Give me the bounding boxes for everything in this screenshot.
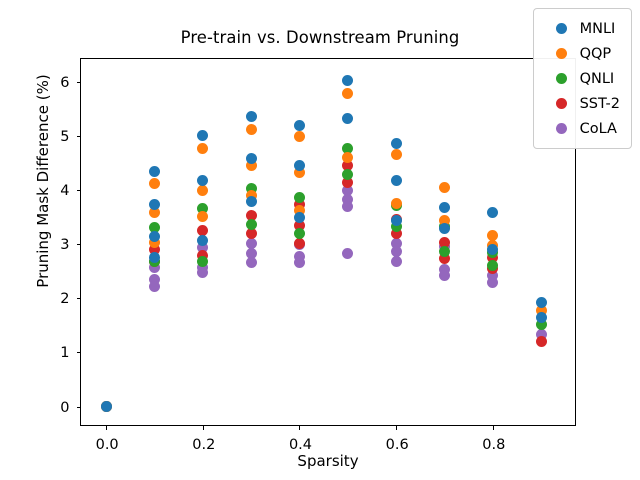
x-axis-tick: 0.4	[299, 425, 300, 430]
x-axis-label: Sparsity	[80, 452, 576, 470]
scatter-point-qqp	[294, 131, 305, 142]
x-axis-tick-label: 0.8	[482, 437, 505, 453]
scatter-point-mnli	[197, 130, 208, 141]
legend-label: MNLI	[580, 21, 616, 37]
y-axis-tick: 5	[77, 136, 82, 137]
scatter-point-qqp	[391, 198, 402, 209]
legend-item-mnli[interactable]: MNLI	[543, 16, 620, 41]
scatter-point-cola	[294, 257, 305, 268]
scatter-point-qqp	[197, 185, 208, 196]
legend-label: QNLI	[580, 71, 615, 87]
scatter-point-mnli	[536, 312, 547, 323]
scatter-point-sst-2	[197, 225, 208, 236]
y-axis-tick: 6	[77, 82, 82, 83]
scatter-point-cola	[246, 257, 257, 268]
scatter-point-qqp	[439, 182, 450, 193]
y-axis-tick-label: 3	[60, 237, 69, 253]
y-axis-tick-label: 2	[60, 291, 69, 307]
scatter-point-mnli	[391, 215, 402, 226]
scatter-point-mnli	[197, 175, 208, 186]
scatter-point-mnli	[536, 297, 547, 308]
legend-item-sst-2[interactable]: SST-2	[543, 91, 620, 116]
scatter-point-cola	[391, 256, 402, 267]
legend-marker-icon	[556, 48, 567, 59]
scatter-point-mnli	[246, 196, 257, 207]
y-axis-label: Pruning Mask Difference (%)	[34, 31, 52, 331]
scatter-points-layer	[81, 59, 575, 425]
scatter-point-mnli	[391, 175, 402, 186]
legend-marker-icon	[556, 73, 567, 84]
scatter-point-cola	[439, 270, 450, 281]
x-axis-tick-label: 0.2	[192, 437, 215, 453]
y-axis-tick-label: 6	[60, 75, 69, 91]
x-axis-tick: 0.8	[493, 425, 494, 430]
scatter-point-qqp	[342, 88, 353, 99]
scatter-point-qqp	[391, 149, 402, 160]
scatter-point-sst-2	[294, 238, 305, 249]
legend-item-cola[interactable]: CoLA	[543, 116, 620, 141]
x-axis-tick: 0.2	[203, 425, 204, 430]
scatter-point-qqp	[246, 124, 257, 135]
scatter-point-qqp	[197, 143, 208, 154]
scatter-point-mnli	[342, 113, 353, 124]
scatter-point-mnli	[391, 138, 402, 149]
plot-area: 01234560.00.20.40.60.8	[80, 58, 576, 426]
y-axis-tick: 3	[77, 244, 82, 245]
x-axis-tick-label: 0.6	[386, 437, 409, 453]
y-axis-tick-label: 4	[60, 183, 69, 199]
scatter-point-qnli	[294, 192, 305, 203]
x-axis-tick: 0.0	[106, 425, 107, 430]
legend-item-qnli[interactable]: QNLI	[543, 66, 620, 91]
y-axis-tick-label: 1	[60, 345, 69, 361]
scatter-point-cola	[197, 267, 208, 278]
x-axis-tick-label: 0.0	[96, 437, 119, 453]
scatter-point-cola	[342, 201, 353, 212]
scatter-point-mnli	[246, 111, 257, 122]
scatter-point-cola	[149, 281, 160, 292]
figure-canvas: Pre-train vs. Downstream Pruning Pruning…	[0, 0, 640, 480]
y-axis-tick: 1	[77, 352, 82, 353]
y-axis-tick: 0	[77, 407, 82, 408]
scatter-point-mnli	[101, 401, 112, 412]
scatter-point-qqp	[197, 211, 208, 222]
scatter-point-sst-2	[536, 336, 547, 347]
legend-marker-icon	[556, 123, 567, 134]
y-axis-tick-label: 0	[60, 400, 69, 416]
legend-label: SST-2	[580, 96, 620, 112]
legend-item-qqp[interactable]: QQP	[543, 41, 620, 66]
scatter-point-mnli	[246, 153, 257, 164]
scatter-point-mnli	[149, 231, 160, 242]
scatter-point-mnli	[342, 75, 353, 86]
y-axis-tick: 2	[77, 298, 82, 299]
legend: MNLIQQPQNLISST-2CoLA	[533, 8, 632, 149]
x-axis-tick: 0.6	[396, 425, 397, 430]
y-axis-tick-label: 5	[60, 129, 69, 145]
scatter-point-mnli	[487, 207, 498, 218]
scatter-point-cola	[246, 238, 257, 249]
legend-marker-icon	[556, 23, 567, 34]
scatter-point-qqp	[149, 178, 160, 189]
scatter-point-qnli	[246, 219, 257, 230]
y-axis-tick: 4	[77, 190, 82, 191]
x-axis-tick-label: 0.4	[289, 437, 312, 453]
legend-label: CoLA	[580, 121, 617, 137]
scatter-point-mnli	[439, 202, 450, 213]
scatter-point-qnli	[294, 228, 305, 239]
scatter-point-cola	[342, 248, 353, 259]
legend-marker-icon	[556, 98, 567, 109]
scatter-point-mnli	[149, 166, 160, 177]
scatter-point-mnli	[294, 120, 305, 131]
legend-label: QQP	[580, 46, 612, 62]
scatter-point-mnli	[439, 223, 450, 234]
